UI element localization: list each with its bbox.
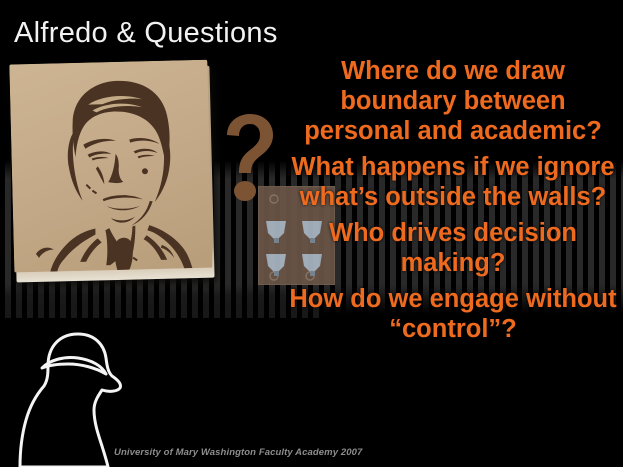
question-item-3: Who drives decision making? [286, 218, 620, 278]
footer-credit: University of Mary Washington Faculty Ac… [114, 447, 362, 458]
portrait-card [9, 60, 219, 287]
question-item-2: What happens if we ignore what’s outside… [286, 152, 620, 212]
striped-background-faint [0, 296, 320, 318]
question-item-4: How do we engage without “control”? [286, 284, 620, 344]
portrait-card-face [9, 60, 212, 273]
alfredo-portrait-icon [9, 60, 212, 273]
questions-list: Where do we draw boundary between person… [286, 56, 620, 350]
hatted-figure-silhouette-icon [12, 322, 140, 467]
presentation-slide: Alfredo & Questions [0, 0, 623, 467]
page-title: Alfredo & Questions [14, 17, 278, 50]
question-item-1: Where do we draw boundary between person… [286, 56, 620, 146]
